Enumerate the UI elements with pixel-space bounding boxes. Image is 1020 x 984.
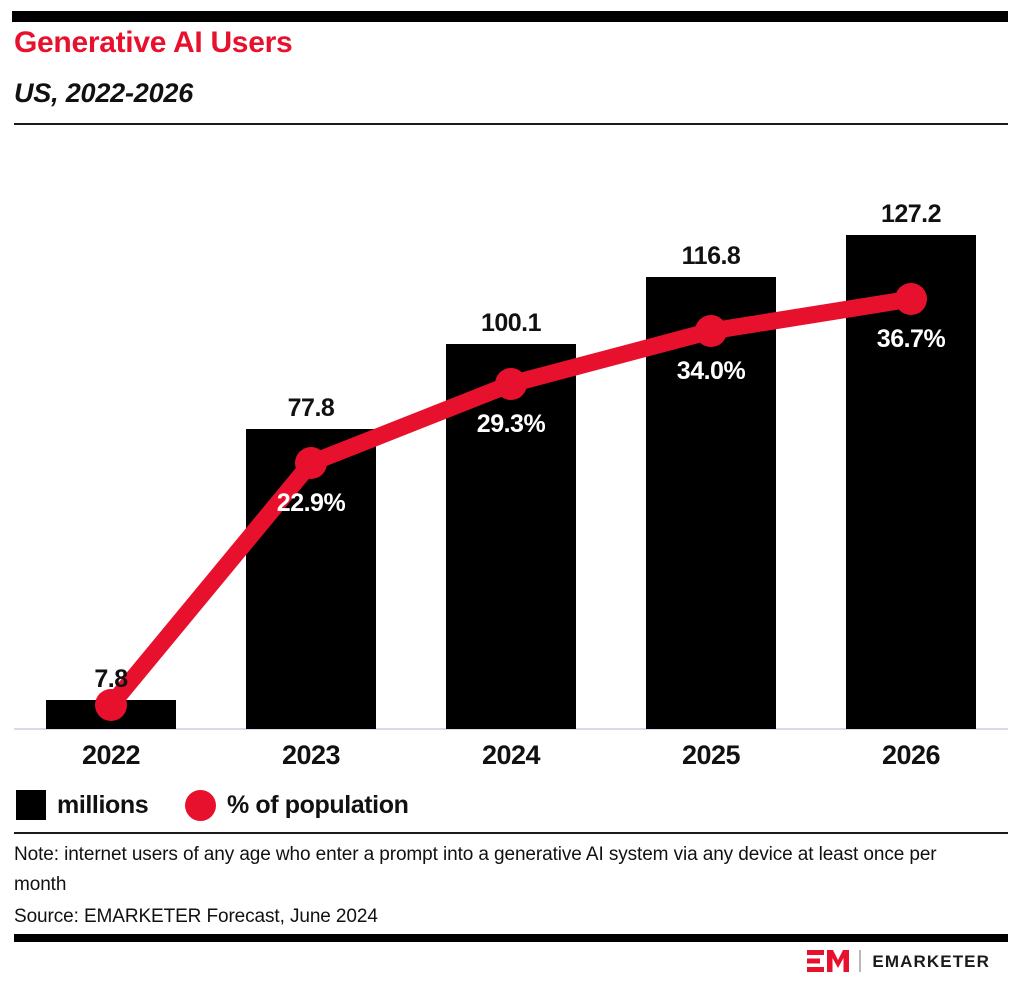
x-tick-2022: 2022: [46, 742, 176, 769]
brand-divider: [859, 950, 861, 972]
x-tick-2026: 2026: [846, 742, 976, 769]
bar-value-2024: 100.1: [446, 311, 576, 336]
bar-2023: [246, 429, 376, 729]
bar-value-2022: 7.8: [46, 667, 176, 692]
chart-source: Source: EMARKETER Forecast, June 2024: [14, 902, 378, 932]
percent-label-2024: 29.3%: [436, 412, 586, 437]
bar-2024: [446, 344, 576, 729]
square-swatch-icon: [16, 790, 46, 820]
bar-value-2026: 127.2: [846, 202, 976, 227]
bottom-divider: [14, 934, 1008, 942]
percent-label-2025: 34.0%: [636, 359, 786, 384]
bar-2026: [846, 235, 976, 729]
percent-label-2023: 22.9%: [236, 491, 386, 516]
brand-footer: EMARKETER: [807, 948, 990, 974]
percent-label-2026: 36.7%: [836, 327, 986, 352]
header-divider: [14, 123, 1008, 125]
legend-item-millions: millions: [16, 790, 148, 820]
top-divider: [12, 11, 1008, 22]
bar-value-2023: 77.8: [246, 396, 376, 421]
bar-2022: [46, 700, 176, 729]
x-tick-2025: 2025: [646, 742, 776, 769]
legend-label-millions: millions: [57, 793, 148, 818]
circle-swatch-icon: [185, 790, 216, 821]
page-subtitle: US, 2022-2026: [14, 80, 193, 107]
x-tick-2024: 2024: [446, 742, 576, 769]
footnote-divider: [14, 832, 1008, 834]
x-tick-2023: 2023: [246, 742, 376, 769]
bar-value-2025: 116.8: [646, 244, 776, 269]
page-title: Generative AI Users: [14, 28, 292, 58]
chart-note: Note: internet users of any age who ente…: [14, 840, 974, 900]
chart-page: Generative AI Users US, 2022-2026 7.877.…: [0, 0, 1020, 984]
x-axis-labels: 20222023202420252026: [0, 742, 1020, 776]
brand-wordmark: EMARKETER: [872, 953, 990, 970]
legend-item-percent-of-population: % of population: [185, 790, 408, 821]
bar-2025: [646, 277, 776, 729]
emarketer-logo-icon: [807, 949, 849, 973]
chart-legend: millions % of population: [0, 790, 1020, 824]
legend-label-percent-of-population: % of population: [227, 793, 408, 818]
chart-plot-area: 7.877.8100.1116.8127.222.9%29.3%34.0%36.…: [0, 140, 1020, 740]
